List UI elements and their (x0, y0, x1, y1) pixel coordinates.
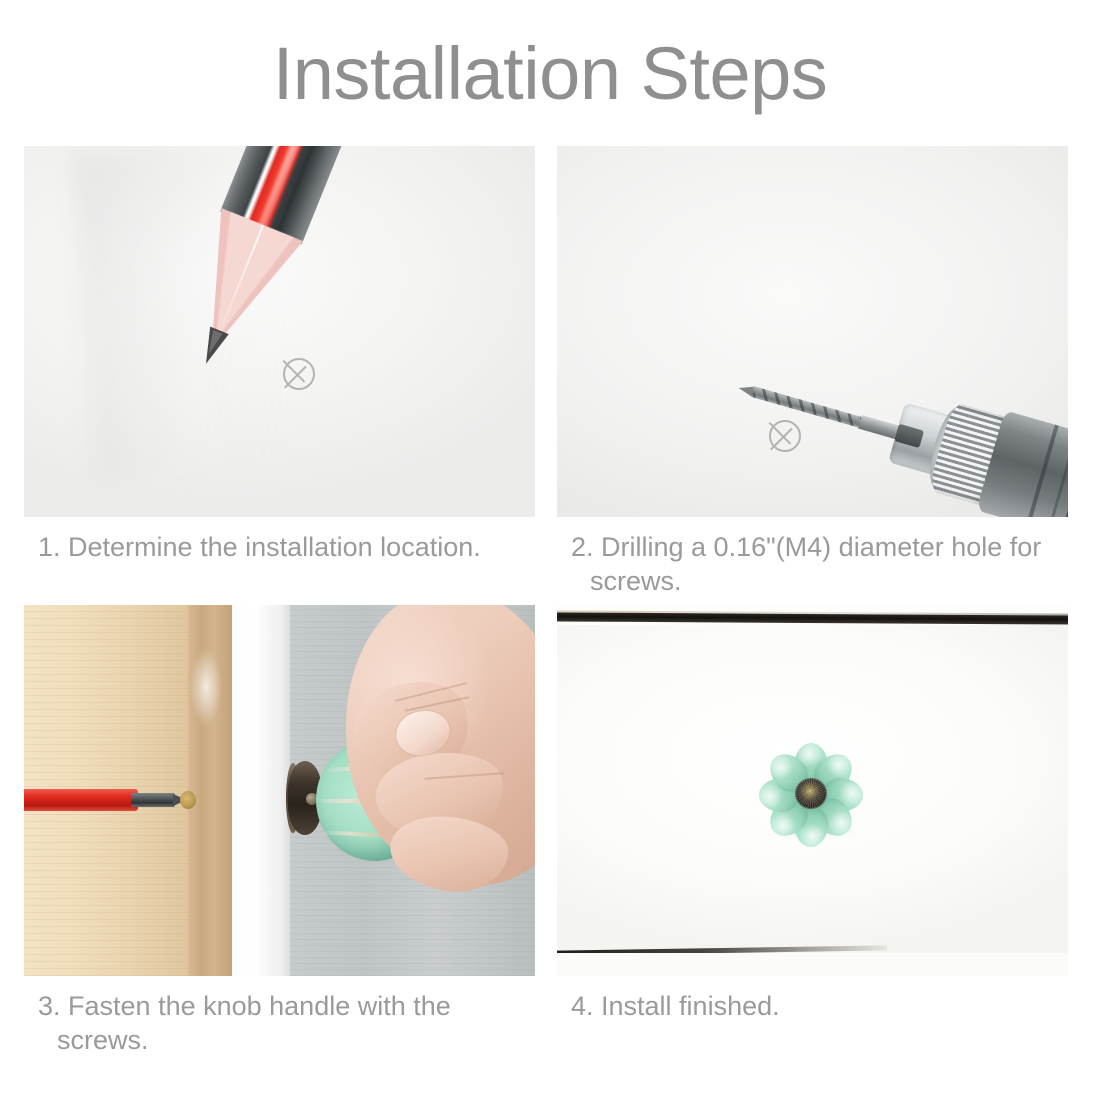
step-cell-2: 2. Drilling a 0.16"(M4) diameter hole fo… (557, 146, 1068, 605)
step-cell-4: 4. Install finished. (557, 605, 1068, 1064)
step-3-image (24, 605, 535, 976)
step-1-caption: 1. Determine the installation location. (24, 517, 521, 605)
drawer-lower-surface (557, 953, 1068, 976)
step-2-caption: 2. Drilling a 0.16"(M4) diameter hole fo… (557, 517, 1054, 605)
screw-head (180, 791, 196, 809)
drill-mark-circle-x-icon (283, 358, 315, 390)
step-cell-3: 3. Fasten the knob handle with the screw… (24, 605, 535, 1064)
knob-center-ridges (796, 779, 826, 808)
page-title: Installation Steps (0, 32, 1100, 116)
screwdriver-shaft (131, 793, 175, 807)
installation-steps-grid: 1. Determine the installation location. (24, 146, 1068, 1064)
white-door-edge (232, 605, 290, 976)
step-4-image (557, 605, 1068, 976)
drill-bit-flutes (753, 387, 864, 428)
step-4-caption: 4. Install finished. (557, 976, 1054, 1064)
step-cell-1: 1. Determine the installation location. (24, 146, 535, 605)
screwdriver-handle (24, 789, 138, 811)
drilling-dust (190, 647, 222, 727)
installed-ceramic-knob (770, 753, 852, 833)
step-2-image (557, 146, 1068, 517)
step-1-image (24, 146, 535, 517)
step-3-caption: 3. Fasten the knob handle with the screw… (24, 976, 521, 1064)
